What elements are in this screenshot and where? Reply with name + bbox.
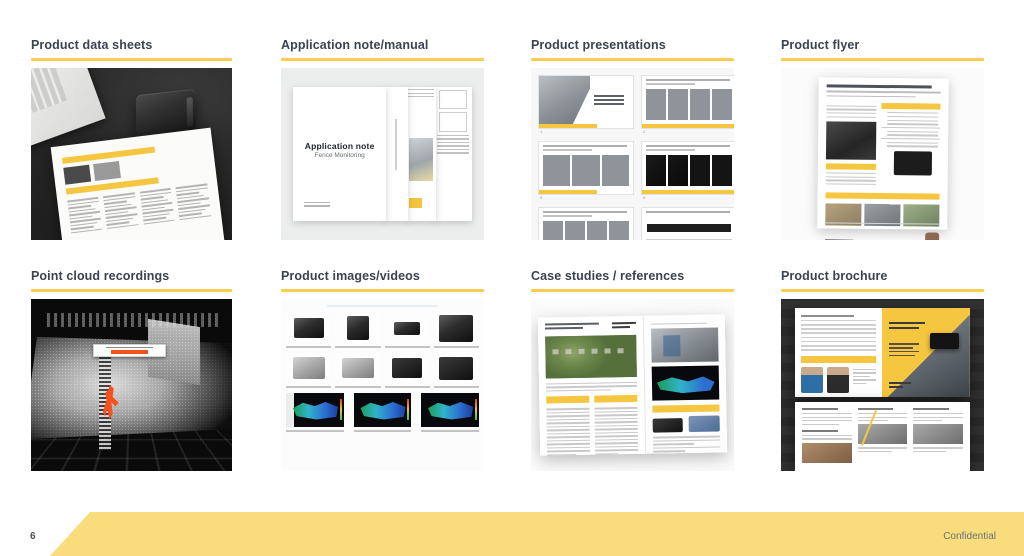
- application-note-photo: Application note Fence Monitoring: [281, 68, 484, 240]
- slide-thumbnail-9: 9: [538, 207, 634, 240]
- thumbnail-application-note[interactable]: Application note Fence Monitoring: [281, 68, 484, 240]
- page-number: 6: [30, 531, 36, 542]
- product-image-caption: [286, 346, 331, 348]
- product-video-cell: [421, 393, 479, 432]
- case-study-photo-building: [651, 328, 719, 363]
- product-video-cell: [354, 393, 412, 432]
- product-image-caption: [286, 386, 331, 388]
- slide-thumbnail-1: 1: [538, 75, 634, 134]
- product-image-caption: [335, 346, 380, 348]
- application-note-subtitle: Fence Monitoring: [293, 152, 386, 159]
- grid-header-line: [327, 305, 439, 307]
- product-video-cell: [286, 393, 344, 432]
- document-fan: Application note Fence Monitoring: [293, 87, 472, 221]
- brochure-contact-people: [801, 367, 876, 393]
- product-image-cell: [286, 313, 331, 348]
- title-underline: [31, 289, 232, 292]
- point-cloud-view: [31, 299, 232, 471]
- case-study-point-cloud: [651, 366, 719, 401]
- brochure-photo: [781, 299, 984, 471]
- confidential-label: Confidential: [943, 531, 996, 542]
- section-application-note-manual[interactable]: Application note/manual: [281, 38, 484, 240]
- product-image-caption: [335, 386, 380, 388]
- footer-yellow-band: [0, 512, 1024, 556]
- section-case-studies-references[interactable]: Case studies / references: [531, 269, 734, 471]
- slide-thumbnail-10: 10: [641, 207, 734, 240]
- thumbnail-product-presentations[interactable]: 1 2: [531, 68, 734, 240]
- brochure-inner-spread: [795, 402, 970, 471]
- title-underline: [31, 58, 232, 61]
- product-image-caption: [434, 386, 479, 388]
- slide-thumbnail-6: 6: [641, 141, 734, 200]
- product-image-cell: [434, 353, 479, 388]
- product-video-caption: [354, 430, 412, 432]
- doc-page-cover: Application note Fence Monitoring: [293, 87, 386, 221]
- product-image-cell: [434, 313, 479, 348]
- product-image-row-1: [286, 313, 479, 348]
- doc-footer-lines: [304, 200, 330, 209]
- slide-canvas: Product data sheets: [0, 0, 1024, 556]
- title-underline: [781, 58, 984, 61]
- section-point-cloud-recordings[interactable]: Point cloud recordings: [31, 269, 232, 471]
- printed-datasheet-object: [51, 127, 224, 240]
- section-title: Product brochure: [781, 269, 984, 283]
- case-study-products: [652, 416, 719, 433]
- brochure-cover-page: [882, 308, 969, 397]
- aerial-site-photo: [545, 335, 636, 379]
- application-note-title: Application note: [293, 141, 386, 151]
- product-image-caption: [385, 346, 430, 348]
- title-underline: [531, 289, 734, 292]
- brochure-comparison-table: [801, 315, 876, 351]
- thumbnail-case-studies[interactable]: [531, 299, 734, 471]
- brochure-cover-spread: [795, 308, 970, 397]
- flyer-page: [817, 78, 948, 231]
- thumbnail-product-data-sheets[interactable]: [31, 68, 232, 240]
- asset-grid: Product data sheets: [0, 0, 1024, 500]
- thumbnail-point-cloud[interactable]: [31, 299, 232, 471]
- product-image-cell: [335, 353, 380, 388]
- thumbnail-product-images[interactable]: [281, 299, 484, 471]
- product-image-row-2: [286, 353, 479, 388]
- section-title: Product presentations: [531, 38, 734, 52]
- product-image-cell: [385, 313, 430, 348]
- product-image-cell: [385, 353, 430, 388]
- case-study-photo: [531, 299, 734, 471]
- datasheet-photo: [31, 68, 232, 240]
- section-product-images-videos[interactable]: Product images/videos: [281, 269, 484, 471]
- section-product-brochure[interactable]: Product brochure: [781, 269, 984, 471]
- doc-page-4: [434, 87, 472, 221]
- section-title: Product images/videos: [281, 269, 484, 283]
- doc-page-2: [384, 87, 407, 221]
- section-title: Product data sheets: [31, 38, 232, 52]
- case-study-right-page: [643, 315, 728, 454]
- product-video-row: [286, 393, 479, 432]
- application-note-title-block: Application note Fence Monitoring: [293, 141, 386, 159]
- title-underline: [281, 58, 484, 61]
- slide-thumbnail-2: 2: [641, 75, 734, 134]
- section-title: Point cloud recordings: [31, 269, 232, 283]
- product-video-caption: [286, 430, 344, 432]
- product-image-cell: [286, 353, 331, 388]
- section-product-flyer[interactable]: Product flyer: [781, 38, 984, 240]
- slide-thumbnail-5: 5: [538, 141, 634, 200]
- slide-footer: 6 Confidential: [0, 512, 1024, 556]
- detection-popup-label: [93, 344, 165, 358]
- product-image-cell: [335, 313, 380, 348]
- section-product-data-sheets[interactable]: Product data sheets: [31, 38, 232, 240]
- title-underline: [281, 289, 484, 292]
- product-image-caption: [385, 386, 430, 388]
- section-title: Product flyer: [781, 38, 984, 52]
- product-video-caption: [421, 430, 479, 432]
- thumbnail-product-brochure[interactable]: [781, 299, 984, 471]
- section-title: Application note/manual: [281, 38, 484, 52]
- section-product-presentations[interactable]: Product presentations 1: [531, 38, 734, 240]
- case-study-left-page: [538, 316, 645, 455]
- product-image-grid: [281, 299, 484, 471]
- thumbnail-product-flyer[interactable]: [781, 68, 984, 240]
- title-underline: [531, 58, 734, 61]
- section-title: Case studies / references: [531, 269, 734, 283]
- point-cloud-points: [31, 299, 232, 471]
- laptop-object: [31, 68, 106, 151]
- flyer-photo: [781, 68, 984, 240]
- brochure-inner-page: [795, 308, 882, 397]
- doc-page-3: [406, 87, 436, 221]
- product-image-caption: [434, 346, 479, 348]
- title-underline: [781, 289, 984, 292]
- brochure-yellow-band: [801, 356, 876, 363]
- slide-deck-grid: 1 2: [531, 68, 734, 240]
- case-study-spread: [538, 315, 727, 456]
